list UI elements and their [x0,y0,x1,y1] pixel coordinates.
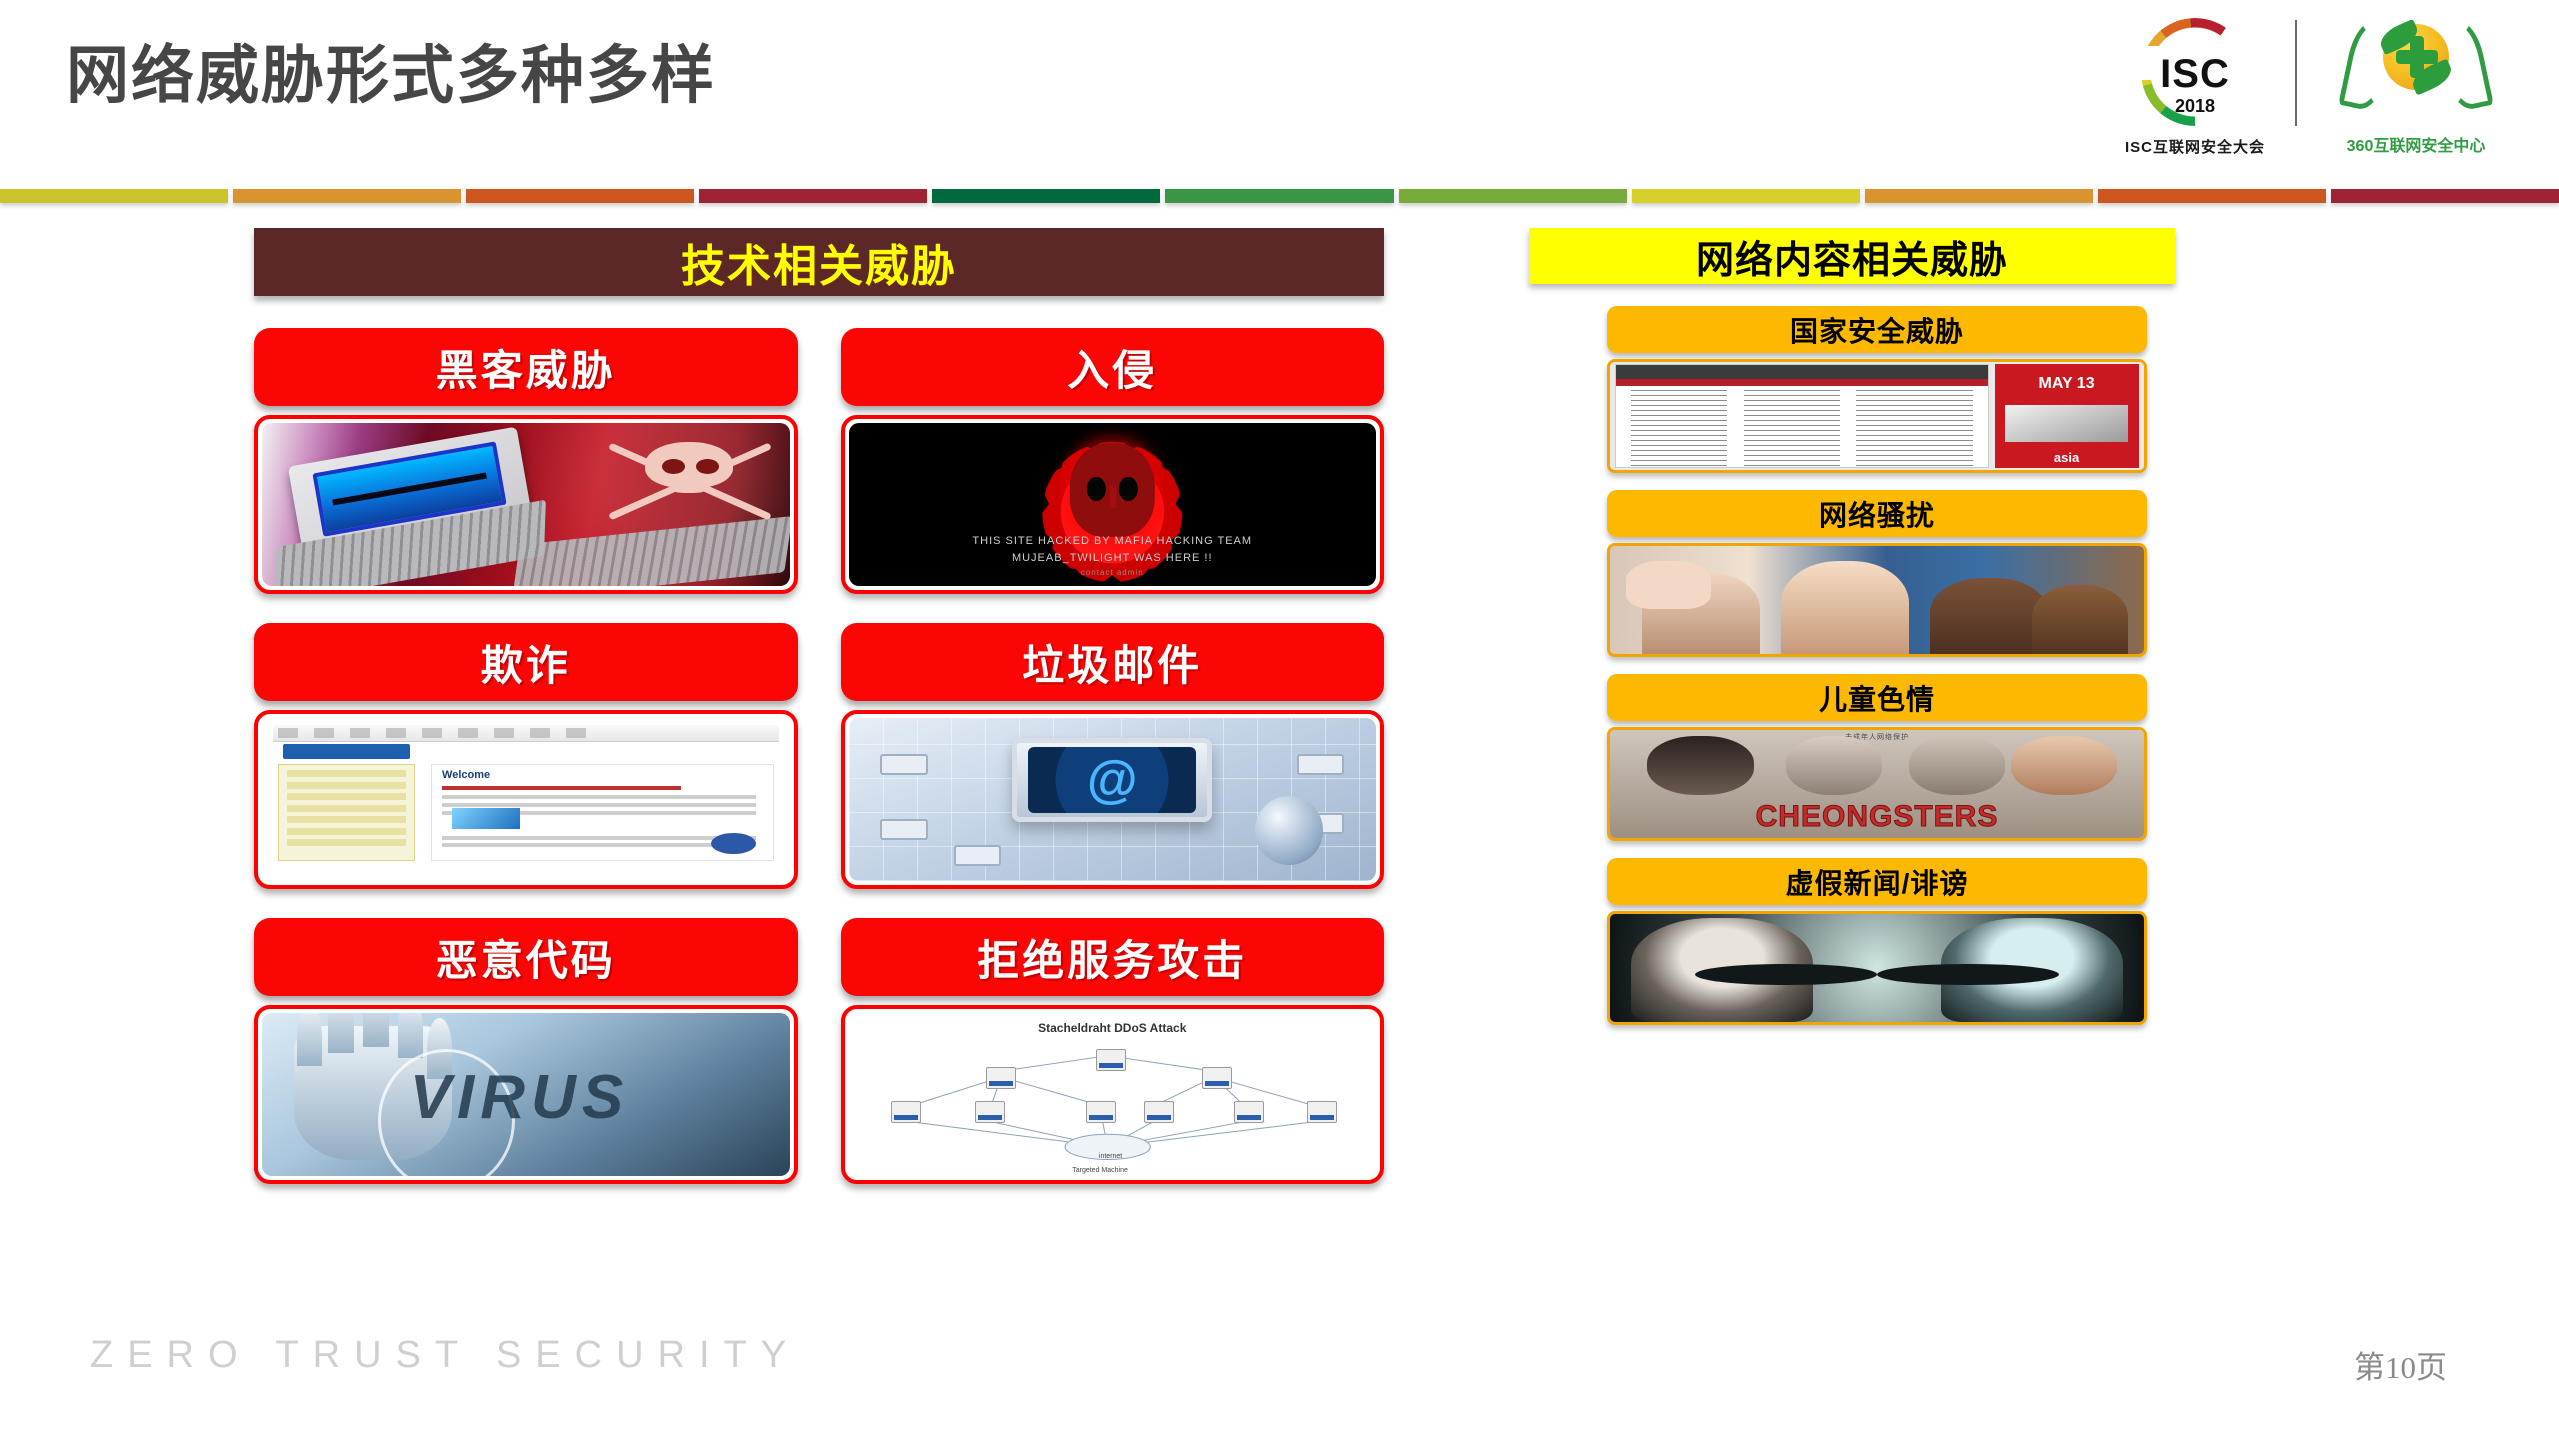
cyber-harassment-people-image [1610,546,2144,654]
isc-logo-word: ISC [2129,52,2261,97]
news-tag-label: asia [2011,450,2123,465]
threat-label-hacker[interactable]: 黑客威胁 [254,328,798,406]
content-card-child-exploitation[interactable]: 儿童色情 未成年人网络保护 CHEONGSTERS [1607,674,2147,841]
content-label-national-security-text: 国家安全威胁 [1790,310,1964,350]
cross-horizontal-icon [2396,50,2438,64]
footer-brand: ZERO TRUST SECURITY [90,1334,800,1377]
content-thumb-harassment [1607,543,2147,657]
content-label-harassment[interactable]: 网络骚扰 [1607,490,2147,537]
virus-hand-image: VIRUS [262,1013,790,1176]
threat-label-intrusion[interactable]: 入侵 [841,328,1385,406]
c360-logo-caption: 360互联网安全中心 [2323,132,2509,156]
c360-logo: 360互联网安全中心 [2331,16,2501,156]
isc-logo: ISC 2018 ISC互联网安全大会 [2129,16,2261,148]
technology-threats-header: 技术相关威胁 [254,228,1384,296]
threat-label-malware-text: 恶意代码 [436,927,616,988]
fraud-page-heading: Welcome [442,769,490,781]
divider-segment-10 [2098,189,2326,203]
page-number: 第10页 [2354,1342,2447,1387]
content-threats-list: 国家安全威胁 MAY 13 asia [1527,306,2177,1025]
technology-threats-header-label: 技术相关威胁 [681,230,957,294]
defacement-line-2: MUJEAB_TWILIGHT WAS HERE !! [849,552,1377,564]
threat-card-spam[interactable]: 垃圾邮件 @ [841,623,1385,889]
divider-segment-1 [0,189,228,203]
threat-card-ddos[interactable]: 拒绝服务攻击 Stacheldraht DDoS Attack [841,918,1385,1184]
logo-group: ISC 2018 ISC互联网安全大会 360互联网安全中心 [2129,16,2501,164]
isc-logo-year: 2018 [2129,96,2261,117]
child-image-overlay-word: CHEONGSTERS [1610,800,2144,834]
threat-card-hacker[interactable]: 黑客威胁 [254,328,798,594]
threat-thumb-intrusion: THIS SITE HACKED BY MAFIA HACKING TEAM M… [841,415,1385,594]
content-label-harassment-text: 网络骚扰 [1819,494,1935,534]
skull-crossbones-icon [621,436,758,511]
ddos-links [849,1013,1377,1176]
at-sign-icon: @ [1028,747,1196,813]
threat-card-intrusion[interactable]: 入侵 THIS SITE HACKED BY MAFIA HACKING TEA… [841,328,1385,594]
threat-label-fraud[interactable]: 欺诈 [254,623,798,701]
spam-email-monitor-image: @ [849,718,1377,881]
news-month-label: MAY 13 [2005,375,2128,393]
defacement-line-1: THIS SITE HACKED BY MAFIA HACKING TEAM [849,535,1377,547]
website-defacement-image: THIS SITE HACKED BY MAFIA HACKING TEAM M… [849,423,1377,586]
virus-word: VIRUS [410,1062,779,1133]
sphere-icon [1255,796,1324,865]
technology-threats-grid: 黑客威胁 入侵 [254,328,1384,1184]
threat-thumb-ddos: Stacheldraht DDoS Attack [841,1005,1385,1184]
content-label-child-exploitation-text: 儿童色情 [1819,678,1935,718]
slide-header: 网络威胁形式多种多样 ISC 2018 ISC互联网安全大会 360互联网安全中… [0,0,2559,185]
threat-label-spam-text: 垃圾邮件 [1022,632,1202,693]
phishing-webpage-image: Welcome [262,718,790,881]
content-thumb-national-security: MAY 13 asia [1607,359,2147,473]
content-threats-header-label: 网络内容相关威胁 [1696,229,2008,284]
content-label-child-exploitation[interactable]: 儿童色情 [1607,674,2147,721]
divider-segment-5 [932,189,1160,203]
threat-thumb-hacker [254,415,798,594]
isc-logo-caption: ISC互联网安全大会 [2117,136,2273,157]
threat-thumb-malware: VIRUS [254,1005,798,1184]
main-block: Welcome [431,764,774,862]
slide-content: 技术相关威胁 黑客威胁 [0,208,2559,1308]
divider-segment-8 [1632,189,1860,203]
hacker-monitor-skull-image [262,423,790,586]
content-label-national-security[interactable]: 国家安全威胁 [1607,306,2147,353]
ddos-topology-diagram-image: Stacheldraht DDoS Attack [849,1013,1377,1176]
ddos-caption-internet: internet [1081,1153,1141,1160]
threat-label-spam[interactable]: 垃圾邮件 [841,623,1385,701]
threat-card-fraud[interactable]: 欺诈 Welcome [254,623,798,889]
content-label-fake-news[interactable]: 虚假新闻/诽谤 [1607,858,2147,905]
content-label-fake-news-text: 虚假新闻/诽谤 [1786,862,1969,902]
threat-label-fraud-text: 欺诈 [481,632,571,693]
threat-thumb-spam: @ [841,710,1385,889]
monitor-icon: @ [1012,738,1212,823]
color-divider-bar [0,186,2559,208]
divider-segment-7 [1399,189,1627,203]
threat-label-hacker-text: 黑客威胁 [436,337,616,398]
fake-news-shouting-image [1610,914,2144,1022]
divider-segment-2 [233,189,461,203]
blood-drip-icon [1110,485,1116,508]
threat-label-malware[interactable]: 恶意代码 [254,918,798,996]
page-title: 网络威胁形式多种多样 [66,45,716,108]
threat-label-ddos[interactable]: 拒绝服务攻击 [841,918,1385,996]
divider-segment-3 [466,189,694,203]
threat-card-malware[interactable]: 恶意代码 VIRUS [254,918,798,1184]
logo-divider [2295,20,2297,126]
raised-hand-icon [1626,561,1711,609]
divider-segment-4 [699,189,927,203]
threat-label-ddos-text: 拒绝服务攻击 [977,927,1247,988]
threat-label-intrusion-text: 入侵 [1067,337,1157,398]
divider-segment-11 [2331,189,2559,203]
divider-segment-9 [1865,189,2093,203]
technology-threats-panel: 技术相关威胁 黑客威胁 [254,228,1384,1184]
news-website-image: MAY 13 asia [1610,362,2144,470]
content-threats-panel: 网络内容相关威胁 国家安全威胁 MAY 13 a [1527,228,2177,1025]
content-card-fake-news[interactable]: 虚假新闻/诽谤 [1607,858,2147,1025]
divider-segment-6 [1165,189,1393,203]
ddos-caption-target: Targeted Machine [1070,1167,1130,1174]
defacement-line-3: contact admin [849,568,1377,577]
content-threats-header: 网络内容相关威胁 [1529,228,2175,284]
keyboard-secondary-icon [512,516,790,586]
threat-thumb-fraud: Welcome [254,710,798,889]
content-card-national-security[interactable]: 国家安全威胁 MAY 13 asia [1607,306,2147,473]
sidebar-block [278,764,415,862]
content-card-harassment[interactable]: 网络骚扰 [1607,490,2147,657]
child-exploitation-image: 未成年人网络保护 CHEONGSTERS [1610,730,2144,838]
content-thumb-fake-news [1607,911,2147,1025]
content-thumb-child-exploitation: 未成年人网络保护 CHEONGSTERS [1607,727,2147,841]
